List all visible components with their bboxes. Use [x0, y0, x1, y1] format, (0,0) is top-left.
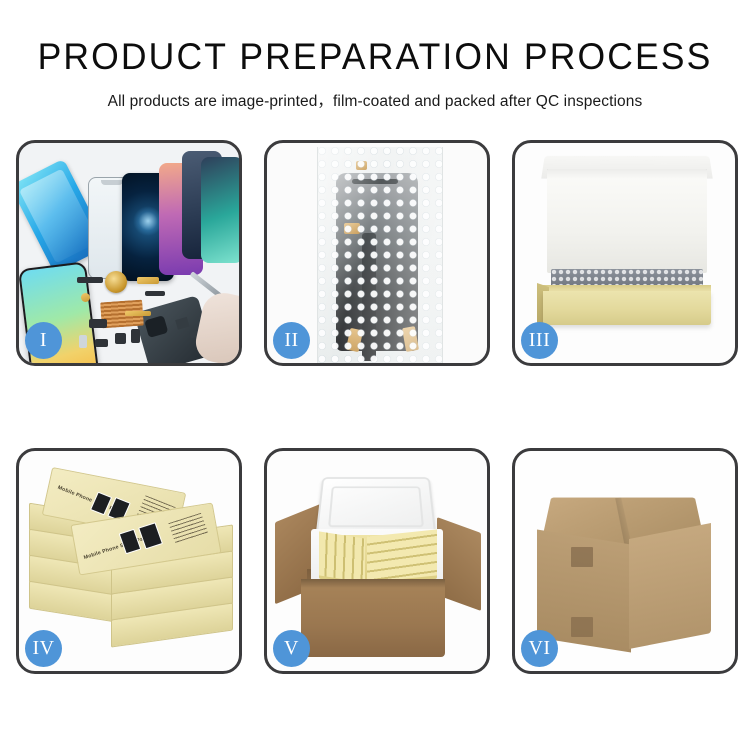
- teal-phone: [201, 157, 242, 263]
- box-product-image: [138, 522, 163, 549]
- yellow-boxes-right-group: [367, 529, 437, 582]
- step-panel-3: III: [512, 140, 738, 366]
- carton-right-face: [629, 523, 711, 649]
- step-panel-5: V: [264, 448, 490, 674]
- product-preparation-infographic: PRODUCT PREPARATION PROCESS All products…: [0, 0, 750, 750]
- carton-tape-patch-bottom: [571, 617, 593, 637]
- step-badge-5: V: [273, 630, 310, 667]
- step-panel-1: I: [16, 140, 242, 366]
- page-subtitle: All products are image-printed，film-coat…: [0, 89, 750, 111]
- gold-connector: [81, 293, 90, 302]
- process-step-grid: I II: [16, 140, 734, 674]
- box-stack: Mobile Phone Spare Parts Mobile Phone Sp…: [23, 469, 239, 655]
- box-spec-lines: [168, 513, 208, 544]
- header: PRODUCT PREPARATION PROCESS All products…: [0, 0, 750, 111]
- gold-connector: [125, 311, 151, 316]
- page-title: PRODUCT PREPARATION PROCESS: [15, 38, 735, 77]
- step-panel-6: VI: [512, 448, 738, 674]
- step-panel-4: Mobile Phone Spare Parts Mobile Phone Sp…: [16, 448, 242, 674]
- gold-connector: [137, 277, 159, 284]
- chip-part: [115, 333, 126, 344]
- chip-part: [89, 319, 107, 328]
- step-badge-2: II: [273, 322, 310, 359]
- step-badge-1: I: [25, 322, 62, 359]
- chip-part: [131, 329, 140, 343]
- chip-part: [145, 291, 165, 296]
- chip-part: [95, 339, 108, 347]
- step-badge-3: III: [521, 322, 558, 359]
- box-product-image: [119, 529, 142, 555]
- step-badge-6: VI: [521, 630, 558, 667]
- carton-body: [301, 579, 445, 657]
- step-badge-4: IV: [25, 630, 62, 667]
- speaker-coil: [105, 271, 127, 293]
- carton-tape-patch-top: [571, 547, 593, 567]
- technician-hand: [192, 289, 242, 366]
- step-panel-2: II: [264, 140, 490, 366]
- yellow-boxes-left-group: [319, 531, 365, 582]
- plastic-sheen: [318, 147, 442, 365]
- chip-part: [77, 277, 103, 283]
- box-front-panel: [543, 291, 711, 325]
- bubble-bag: [317, 147, 443, 365]
- white-foam-sheet: [547, 169, 707, 273]
- chip-part: [79, 335, 87, 348]
